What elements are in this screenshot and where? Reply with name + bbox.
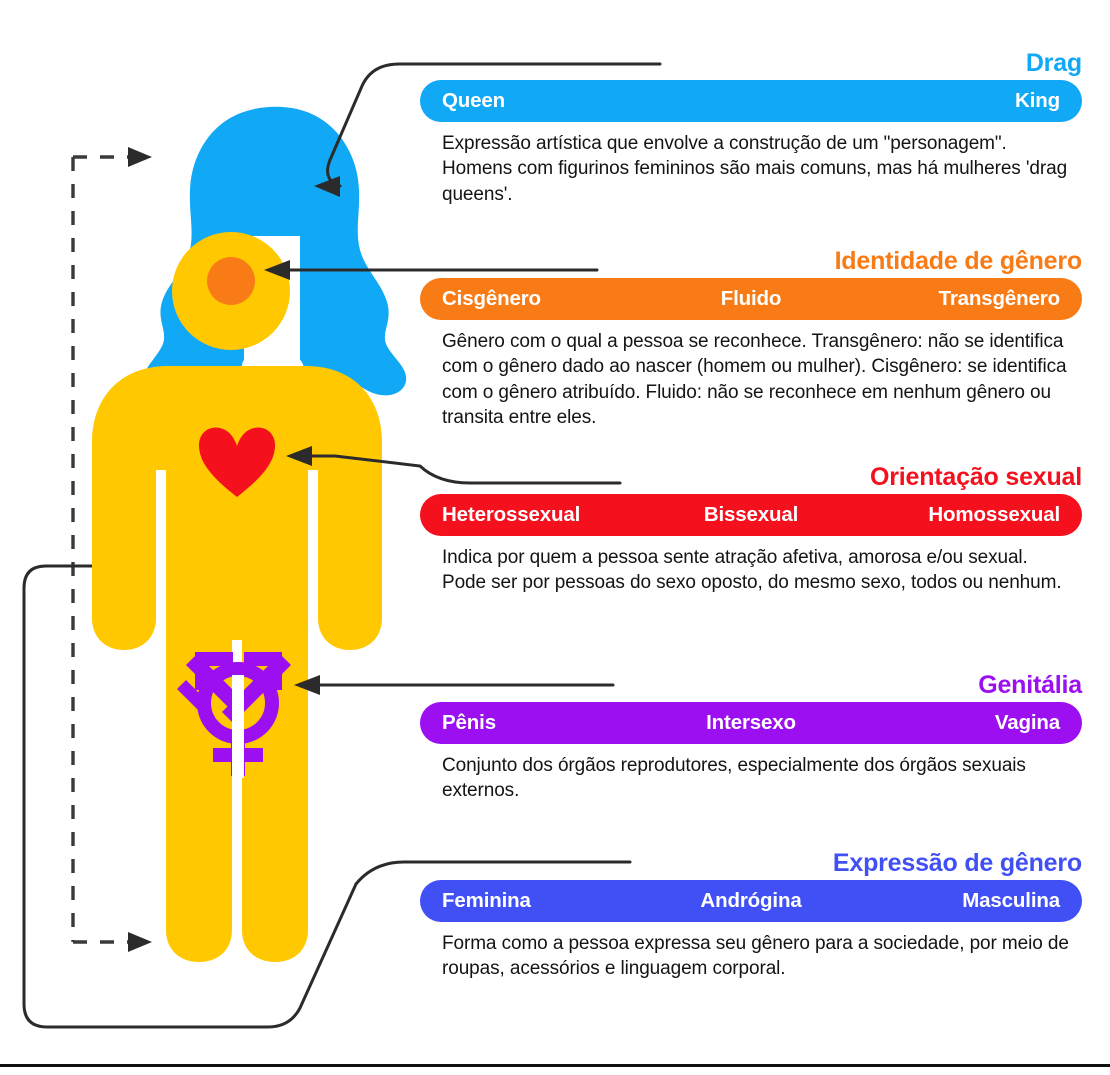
face-dot-shape — [207, 257, 255, 305]
section-identidade-description: Gênero com o qual a pessoa se reconhece.… — [420, 329, 1082, 431]
spectrum-right-label: Homossexual — [928, 503, 1060, 527]
spectrum-right-label: Masculina — [962, 889, 1060, 913]
spectrum-right-label: King — [1015, 89, 1060, 113]
section-expressao-header: Expressão de gênero — [420, 846, 1082, 880]
section-orientacao-description: Indica por quem a pessoa sente atração a… — [420, 545, 1082, 596]
section-genitalia-header: Genitália — [420, 668, 1082, 702]
spectrum-mid-label: Andrógina — [700, 889, 801, 913]
spectrum-mid-label: Fluido — [721, 287, 782, 311]
section-identidade-de-genero: Identidade de gênero Cisgênero Fluido Tr… — [420, 244, 1082, 431]
section-expressao-spectrum[interactable]: Feminina Andrógina Masculina — [420, 880, 1082, 922]
section-drag-spectrum[interactable]: Queen King — [420, 80, 1082, 122]
spectrum-right-label: Vagina — [995, 711, 1060, 735]
section-orientacao-sexual: Orientação sexual Heterossexual Bissexua… — [420, 460, 1082, 596]
spectrum-left-label: Cisgênero — [442, 287, 541, 311]
section-identidade-spectrum[interactable]: Cisgênero Fluido Transgênero — [420, 278, 1082, 320]
section-orientacao-header: Orientação sexual — [420, 460, 1082, 494]
section-drag-title: Drag — [1026, 51, 1082, 76]
spectrum-left-label: Queen — [442, 89, 505, 113]
trans-symbol-white-stripe — [232, 675, 244, 778]
section-drag: Drag Queen King Expressão artística que … — [420, 46, 1082, 207]
section-genitalia-title: Genitália — [978, 673, 1082, 698]
section-genitalia-spectrum[interactable]: Pênis Intersexo Vagina — [420, 702, 1082, 744]
section-identidade-header: Identidade de gênero — [420, 244, 1082, 278]
section-expressao-de-genero: Expressão de gênero Feminina Andrógina M… — [420, 846, 1082, 982]
section-drag-header: Drag — [420, 46, 1082, 80]
bottom-divider — [0, 1064, 1110, 1067]
section-drag-description: Expressão artística que envolve a constr… — [420, 131, 1082, 207]
spectrum-left-label: Feminina — [442, 889, 531, 913]
section-orientacao-spectrum[interactable]: Heterossexual Bissexual Homossexual — [420, 494, 1082, 536]
dashed-arrow-top-icon — [128, 147, 152, 167]
spectrum-mid-label: Intersexo — [706, 711, 796, 735]
spectrum-right-label: Transgênero — [939, 287, 1060, 311]
spectrum-left-label: Heterossexual — [442, 503, 580, 527]
head-shape — [172, 232, 290, 350]
infographic-root: Drag Queen King Expressão artística que … — [0, 0, 1110, 1075]
section-orientacao-title: Orientação sexual — [870, 465, 1082, 490]
section-identidade-title: Identidade de gênero — [835, 249, 1082, 274]
spectrum-mid-label: Bissexual — [704, 503, 798, 527]
section-genitalia: Genitália Pênis Intersexo Vagina Conjunt… — [420, 668, 1082, 804]
dashed-arrow-bottom-icon — [128, 932, 152, 952]
section-expressao-title: Expressão de gênero — [833, 851, 1082, 876]
section-expressao-description: Forma como a pessoa expressa seu gênero … — [420, 931, 1082, 982]
section-genitalia-description: Conjunto dos órgãos reprodutores, especi… — [420, 753, 1082, 804]
spectrum-left-label: Pênis — [442, 711, 496, 735]
